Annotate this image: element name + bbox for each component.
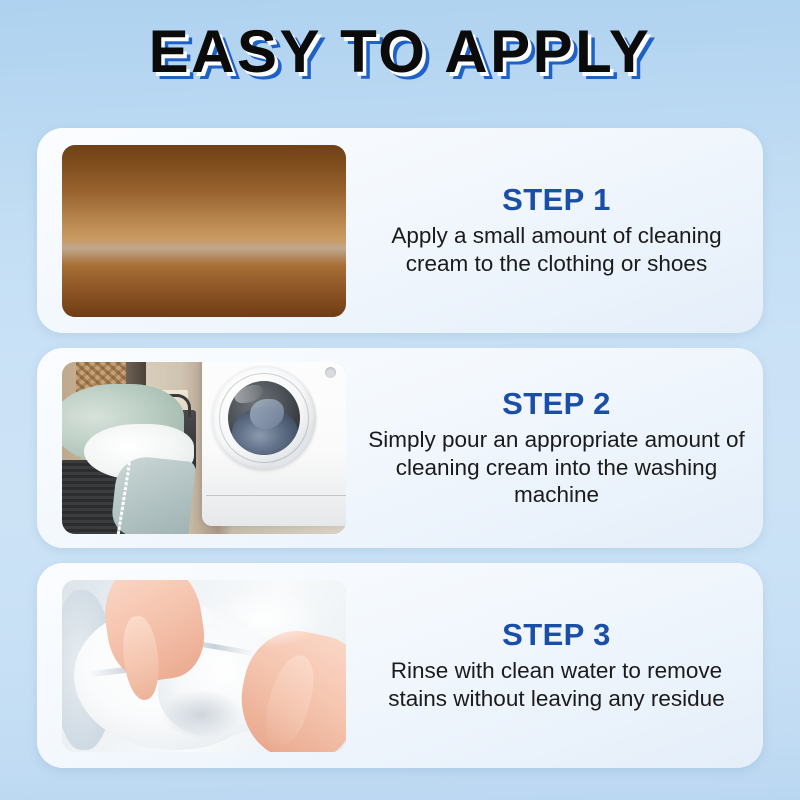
step-card-1-body: STEP 1 Apply a small amount of cleaning … xyxy=(346,183,763,278)
step-1-description: Apply a small amount of cleaning cream t… xyxy=(368,222,745,278)
page-title: EASY TO APPLY EASY TO APPLY EASY TO APPL… xyxy=(0,22,800,104)
scene-highlight xyxy=(212,588,322,648)
hands-rinsing-scene xyxy=(62,580,346,752)
step-card-3-body: STEP 3 Rinse with clean water to remove … xyxy=(346,618,763,713)
page-title-stack: EASY TO APPLY EASY TO APPLY EASY TO APPL… xyxy=(149,22,652,82)
cream-gradient-fill xyxy=(62,145,346,317)
step-3-description: Rinse with clean water to remove stains … xyxy=(368,657,745,713)
step-2-title: STEP 2 xyxy=(368,387,745,421)
washer-door-glass xyxy=(228,381,300,455)
washing-machine-image xyxy=(62,362,346,534)
washer-control-knob xyxy=(325,367,336,378)
step-2-description: Simply pour an appropriate amount of cle… xyxy=(368,426,745,510)
step-1-title: STEP 1 xyxy=(368,183,745,217)
step-3-title: STEP 3 xyxy=(368,618,745,652)
washing-machine-body xyxy=(202,362,346,526)
washing-machine-scene xyxy=(62,362,346,534)
step-card-2[interactable]: STEP 2 Simply pour an appropriate amount… xyxy=(37,348,763,548)
step-card-1[interactable]: STEP 1 Apply a small amount of cleaning … xyxy=(37,128,763,333)
step-card-2-body: STEP 2 Simply pour an appropriate amount… xyxy=(346,387,763,510)
page-title-text: EASY TO APPLY xyxy=(149,18,652,85)
step-card-3[interactable]: STEP 3 Rinse with clean water to remove … xyxy=(37,563,763,768)
cleaning-cream-swatch-image xyxy=(62,145,346,317)
hands-rinsing-cloth-image xyxy=(62,580,346,752)
washer-door-ring xyxy=(212,366,316,470)
cloth-shadow xyxy=(162,690,242,738)
washer-panel-seam xyxy=(206,495,346,496)
